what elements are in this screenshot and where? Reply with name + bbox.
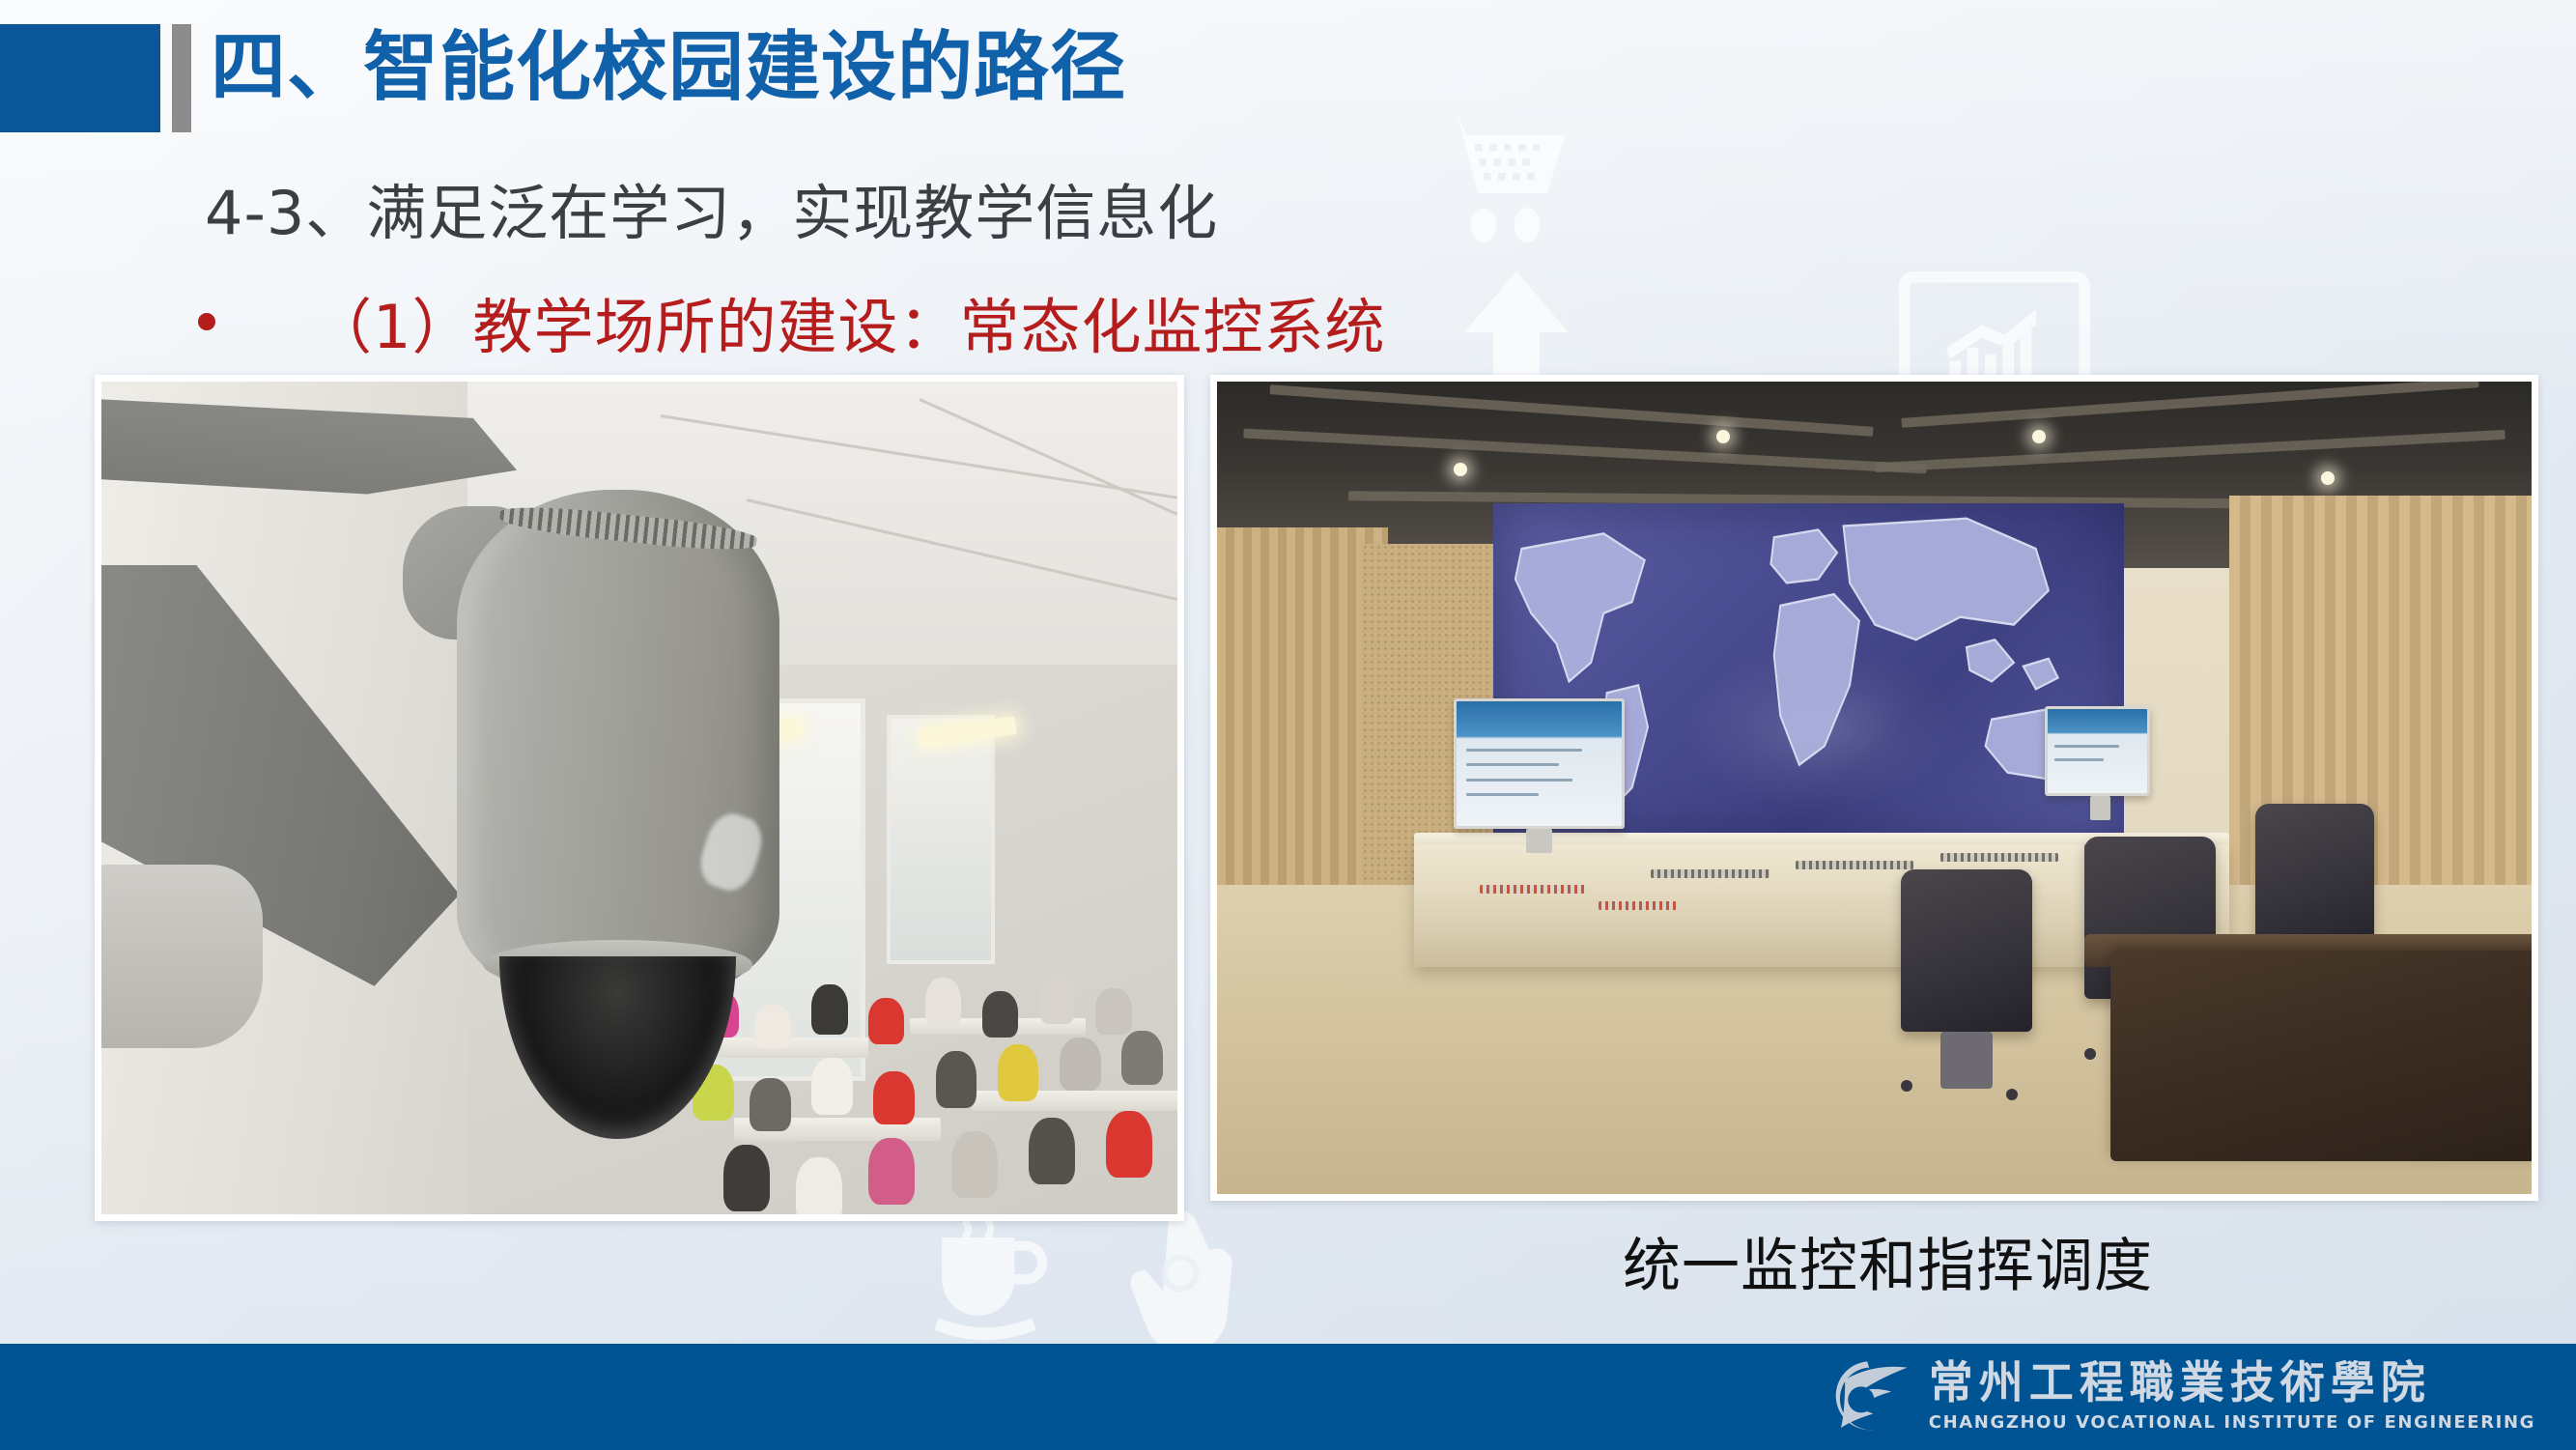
bullet-item-label: （1）教学场所的建设：常态化监控系统 xyxy=(312,278,1385,365)
image-caption: 统一监控和指挥调度 xyxy=(1623,1219,2153,1303)
title-accent-bar xyxy=(172,24,191,132)
control-room-photo xyxy=(1210,375,2538,1201)
slide-subtitle: 4-3、满足泛在学习，实现教学信息化 xyxy=(205,164,1218,251)
classroom-cctv-camera-photo xyxy=(95,375,1184,1221)
university-name-en: CHANGZHOU VOCATIONAL INSTITUTE OF ENGINE… xyxy=(1929,1412,2535,1433)
shopping-cart-icon xyxy=(1434,106,1579,261)
console-monitor-secondary xyxy=(2045,706,2150,796)
hand-icon xyxy=(1125,1198,1241,1352)
console-monitor-main xyxy=(1454,698,1625,829)
bullet-dot-icon xyxy=(198,313,215,330)
slide-footer: 常州工程職業技術學院 CHANGZHOU VOCATIONAL INSTITUT… xyxy=(0,1344,2576,1450)
university-logo: 常州工程職業技術學院 CHANGZHOU VOCATIONAL INSTITUT… xyxy=(1815,1351,2535,1440)
university-name-cn: 常州工程職業技術學院 xyxy=(1929,1359,2535,1406)
bullet-item: （1）教学场所的建设：常态化监控系统 xyxy=(198,278,1385,365)
presentation-slide: 四、智能化校园建设的路径 4-3、满足泛在学习，实现教学信息化 （1）教学场所的… xyxy=(0,0,2576,1450)
page-title: 四、智能化校园建设的路径 xyxy=(211,27,1126,110)
coffee-cup-icon xyxy=(922,1212,1048,1343)
title-accent-box xyxy=(0,24,160,132)
university-emblem-icon xyxy=(1815,1351,1915,1440)
